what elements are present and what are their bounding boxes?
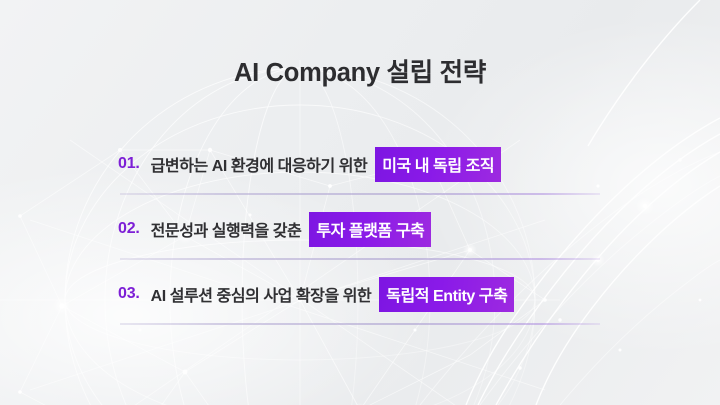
- list-item-line: 03. AI 설루션 중심의 사업 확장을 위한 독립적 Entity 구축: [118, 276, 604, 312]
- list-item-number: 02.: [118, 220, 140, 238]
- list-item-number: 03.: [118, 285, 140, 303]
- list-item-highlight: 투자 플랫폼 구축: [309, 212, 431, 247]
- presentation-slide: AI Company 설립 전략 01. 급변하는 AI 환경에 대응하기 위한…: [0, 0, 720, 405]
- strategy-list: 01. 급변하는 AI 환경에 대응하기 위한 미국 내 독립 조직 02. 전…: [118, 146, 604, 341]
- list-item: 01. 급변하는 AI 환경에 대응하기 위한 미국 내 독립 조직: [118, 146, 604, 211]
- page-title: AI Company 설립 전략: [0, 52, 720, 89]
- list-item-highlight: 독립적 Entity 구축: [379, 277, 514, 312]
- list-item-divider: [120, 193, 600, 195]
- list-item-divider: [120, 258, 600, 260]
- list-item-text: 전문성과 실행력을 갖춘: [151, 217, 302, 241]
- list-item-highlight: 미국 내 독립 조직: [375, 147, 501, 182]
- list-item-number: 01.: [118, 155, 140, 173]
- list-item-text: 급변하는 AI 환경에 대응하기 위한: [151, 152, 368, 176]
- list-item-text: AI 설루션 중심의 사업 확장을 위한: [151, 282, 372, 306]
- list-item: 03. AI 설루션 중심의 사업 확장을 위한 독립적 Entity 구축: [118, 276, 604, 341]
- list-item-divider: [120, 323, 600, 325]
- list-item: 02. 전문성과 실행력을 갖춘 투자 플랫폼 구축: [118, 211, 604, 276]
- list-item-line: 01. 급변하는 AI 환경에 대응하기 위한 미국 내 독립 조직: [118, 146, 604, 182]
- list-item-line: 02. 전문성과 실행력을 갖춘 투자 플랫폼 구축: [118, 211, 604, 247]
